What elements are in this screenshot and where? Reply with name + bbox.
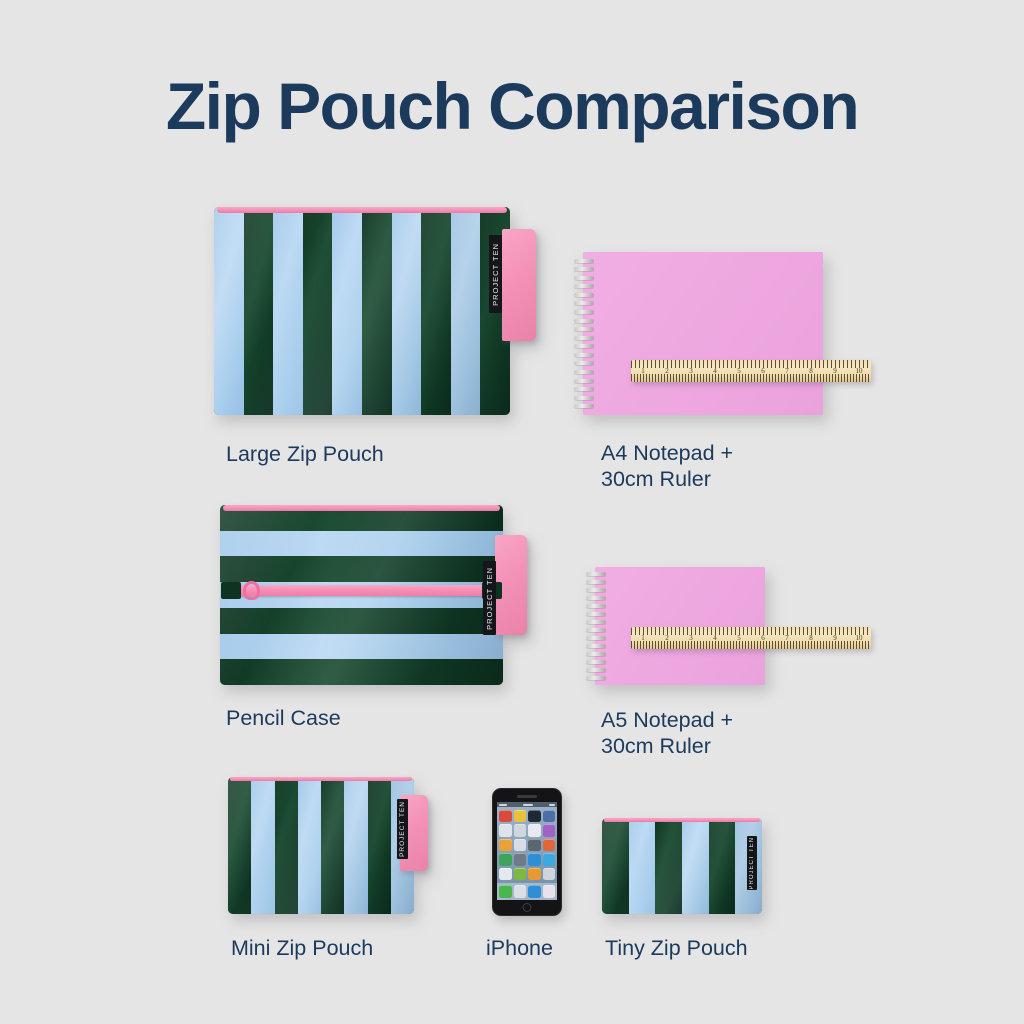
app-icon [543,853,556,865]
app-icon [499,868,512,880]
spiral-binding-icon [574,259,594,409]
zipper-icon [604,818,761,822]
app-icon [528,824,541,836]
dock-icon-safari [528,885,541,898]
app-icon [514,839,527,851]
app-icon [543,810,556,822]
app-icon [514,853,527,865]
app-icon [528,868,541,880]
label-a5-notepad-ruler: A5 Notepad + 30cm Ruler [601,707,733,759]
zipper-icon [230,777,412,781]
dock-icon-phone [499,885,512,898]
zipper-icon [217,207,507,213]
pouch-body [228,777,414,914]
tiny-zip-pouch: PROJECT TEN [602,818,762,914]
zipper-icon [223,505,500,511]
pouch-body [602,818,762,914]
app-icon [514,824,527,836]
ruler-a5: 1 2 3 4 5 6 7 8 9 10 [631,627,871,649]
dock [497,883,557,900]
app-icon [499,810,512,822]
label-large-zip-pouch: Large Zip Pouch [226,441,384,467]
home-button-icon [523,903,532,912]
front-pocket-zipper [231,585,491,596]
dock-icon-mail [514,885,527,898]
a4-notepad [583,252,823,415]
brand-tag: PROJECT TEN [489,235,502,313]
ruler-markings: 1 2 3 4 5 6 7 8 9 10 [631,634,871,643]
app-grid [497,807,557,883]
app-icon [499,839,512,851]
app-icon [528,853,541,865]
ruler-a4: 1 2 3 4 5 6 7 8 9 10 [631,360,871,382]
pouch-body [214,207,510,415]
label-iphone: iPhone [486,935,553,961]
comparison-image: Zip Pouch Comparison PROJECT TEN Large Z… [0,0,1024,1024]
app-icon [543,839,556,851]
label-tiny-zip-pouch: Tiny Zip Pouch [605,935,748,961]
mini-zip-pouch: PROJECT TEN [228,777,414,914]
stripe-pattern-vertical [602,818,762,914]
pencil-case: PROJECT TEN [220,505,503,685]
stripe-pattern-vertical [228,777,414,914]
phone-screen [497,802,557,900]
iphone [492,788,562,916]
zipper-pull-icon [243,581,260,600]
spiral-binding-icon [586,572,606,681]
large-zip-pouch: PROJECT TEN [214,207,510,415]
a5-notepad [595,567,765,685]
app-icon [499,853,512,865]
app-icon [514,810,527,822]
label-a4-notepad-ruler: A4 Notepad + 30cm Ruler [601,440,733,492]
app-icon [514,868,527,880]
page-title: Zip Pouch Comparison [0,68,1024,144]
label-mini-zip-pouch: Mini Zip Pouch [231,935,373,961]
label-pencil-case: Pencil Case [226,705,341,731]
app-icon [543,868,556,880]
brand-tag: PROJECT TEN [747,836,757,890]
app-icon [499,824,512,836]
app-icon [528,839,541,851]
app-icon [528,810,541,822]
ruler-markings: 1 2 3 4 5 6 7 8 9 10 [631,367,871,376]
brand-tag: PROJECT TEN [483,561,496,635]
earpiece-speaker-icon [517,795,537,798]
app-icon [543,824,556,836]
stripe-pattern-vertical [214,207,510,415]
dock-icon-music [543,885,556,898]
pull-tab [502,229,536,341]
brand-tag: PROJECT TEN [397,799,408,859]
